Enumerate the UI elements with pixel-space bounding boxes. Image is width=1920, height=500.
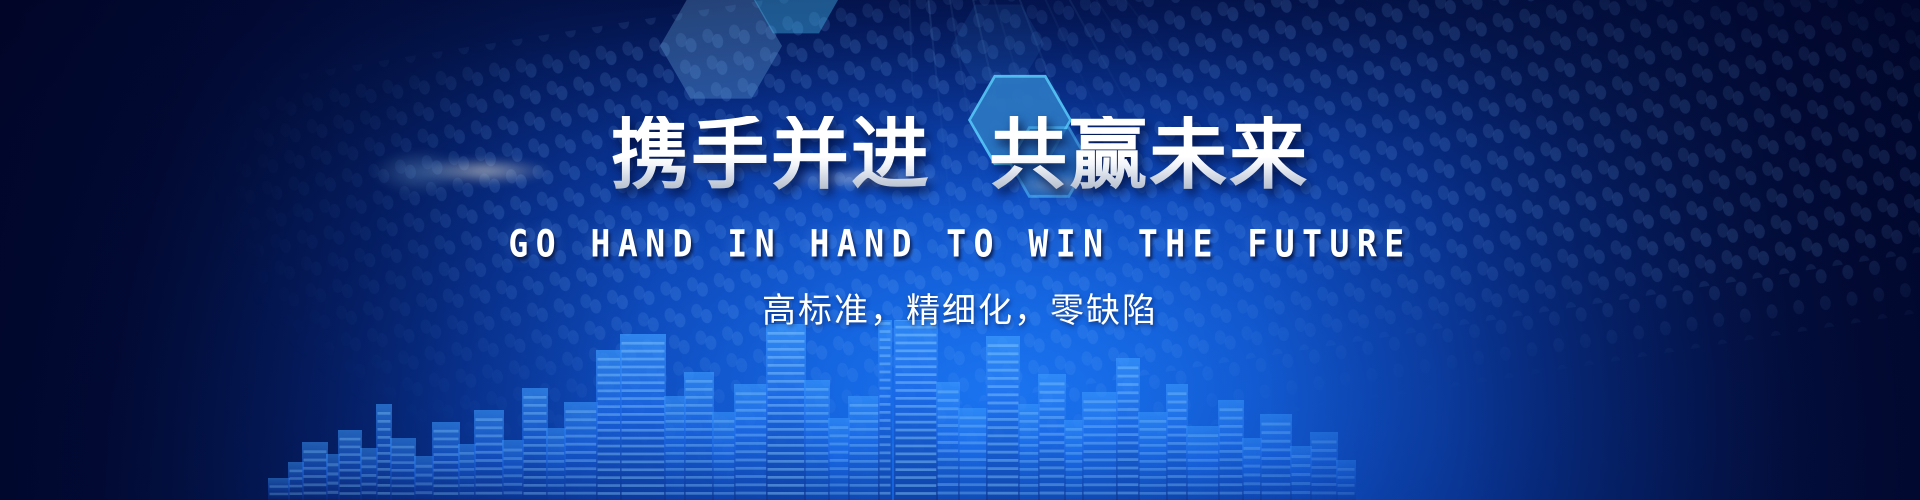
promotional-banner: 携手并进 共赢未来 GO HAND IN HAND TO WIN THE FUT…	[0, 0, 1920, 500]
banner-subtitle-english: GO HAND IN HAND TO WIN THE FUTURE	[0, 222, 1920, 266]
banner-headline: 携手并进 共赢未来	[0, 116, 1920, 194]
banner-content: 携手并进 共赢未来 GO HAND IN HAND TO WIN THE FUT…	[0, 0, 1920, 500]
banner-tagline: 高标准，精细化，零缺陷	[0, 283, 1920, 332]
